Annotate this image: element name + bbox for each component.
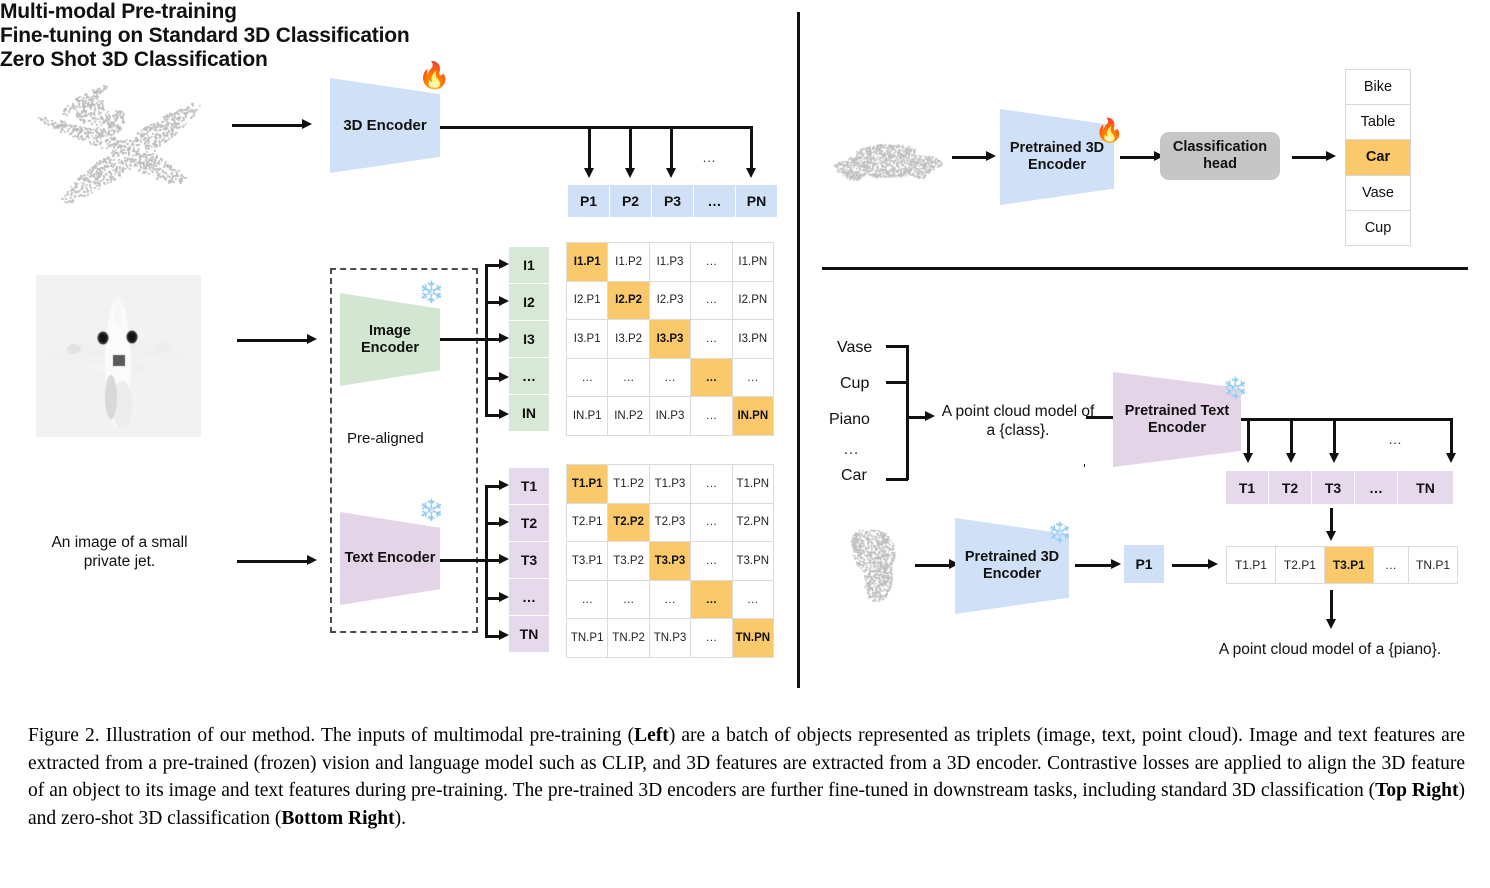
bus-ellipsis: … <box>702 149 716 167</box>
matrix-cell: T1.P1 <box>567 465 607 503</box>
t-cell-label: T2 <box>521 515 537 531</box>
t-cell-label: T3 <box>521 552 537 568</box>
t-row-label: T2 <box>1282 480 1298 496</box>
image-encoder-label: Image Encoder <box>340 323 440 356</box>
p-cell-label: PN <box>747 193 766 209</box>
arrow-head <box>1208 559 1218 569</box>
matrix-cell: IN.P1 <box>567 397 607 435</box>
t-row-label: … <box>1369 480 1383 496</box>
matrix-cell: I3.P1 <box>567 320 607 358</box>
arrow-head <box>499 554 509 564</box>
class-list-item[interactable]: Car <box>1346 140 1410 174</box>
arrow-head <box>1326 151 1336 161</box>
p-cell-label: P3 <box>664 193 681 209</box>
matrix-cell: … <box>691 243 731 281</box>
matrix-cell: … <box>567 581 607 619</box>
class-bracket-arm <box>886 381 908 384</box>
arrow-head <box>625 168 635 178</box>
i-cell: I2 <box>509 284 549 320</box>
snowflake-emoji: ❄️ <box>1047 523 1072 543</box>
image-encoder[interactable]: Image Encoder <box>340 293 440 386</box>
matrix-cell: I3.PN <box>733 320 773 358</box>
p-cell: … <box>694 185 735 217</box>
caption-emphasis: Bottom Right <box>281 808 394 829</box>
prompt-line-1: A point cloud model of <box>942 403 1095 420</box>
i-cell: … <box>509 358 549 394</box>
arrow-head <box>1243 453 1253 463</box>
i-cell-label: … <box>522 368 536 384</box>
bus-ellipsis: … <box>1388 431 1402 449</box>
t-cell: TN <box>509 616 549 652</box>
arrow-line <box>237 339 309 342</box>
snowflake-emoji: ❄️ <box>418 500 444 521</box>
p-cell-label: P2 <box>622 193 639 209</box>
pre-aligned-label: Pre-aligned <box>347 430 424 447</box>
i-cell: IN <box>509 395 549 431</box>
arrow-head <box>1326 619 1336 629</box>
class-bracket-spine <box>906 345 909 480</box>
matrix-cell: T2.P2 <box>608 504 648 542</box>
matrix-cell: I1.P3 <box>650 243 690 281</box>
arrow-line <box>1120 156 1158 159</box>
matrix-cell: … <box>691 397 731 435</box>
i-cell: I3 <box>509 321 549 357</box>
matrix-cell: TN.P2 <box>608 619 648 657</box>
t-cell: T3 <box>509 542 549 578</box>
arrow-line <box>1086 416 1116 419</box>
text-encoder-line-2: Encoder <box>1148 420 1206 436</box>
arrow-head <box>499 296 509 306</box>
arrow-head <box>666 168 676 178</box>
t-row-cell: T1 <box>1226 471 1268 504</box>
arrow-line <box>1172 564 1212 567</box>
matrix-cell: IN.P2 <box>608 397 648 435</box>
image-encoder-text: Image Encoder <box>361 323 419 356</box>
matrix-cell: … <box>650 581 690 619</box>
bus-drop-1 <box>588 126 591 171</box>
arrow-line <box>1330 590 1333 622</box>
matrix-cell: … <box>650 359 690 397</box>
matrix-cell: … <box>691 282 731 320</box>
arrow-head <box>307 555 317 565</box>
bus-drop-2 <box>629 126 632 171</box>
p1-feature-cell: P1 <box>1124 545 1164 583</box>
vertical-divider <box>797 12 800 688</box>
class-list-item[interactable]: Table <box>1346 105 1410 139</box>
arrow-head <box>584 168 594 178</box>
zeroshot-class-ellipsis: … <box>843 440 859 460</box>
head-line-1: Classification <box>1173 139 1267 155</box>
bus-drop-2 <box>1290 418 1293 456</box>
p-cell-label: P1 <box>580 193 597 209</box>
matrix-cell: T1.PN <box>733 465 773 503</box>
bus-line-horizontal <box>440 126 753 129</box>
horizontal-divider <box>822 267 1468 270</box>
score-cell: T3.P1 <box>1325 547 1373 583</box>
arrow-line <box>440 559 488 562</box>
zeroshot-result: A point cloud model of a {piano}. <box>1175 640 1485 659</box>
p-cell-label: … <box>708 193 722 209</box>
arrow-head <box>499 592 509 602</box>
matrix-cell: I3.P3 <box>650 320 690 358</box>
classification-head-label: Classification head <box>1173 139 1267 174</box>
arrow-line <box>237 560 309 563</box>
matrix-cell: … <box>733 359 773 397</box>
arrow-head <box>1329 453 1339 463</box>
text-encoder-label: Text Encoder <box>341 550 440 567</box>
fire-emoji: 🔥 <box>1095 119 1124 142</box>
t-cell-label: TN <box>520 626 539 642</box>
matrix-cell: … <box>733 581 773 619</box>
arrow-head <box>746 168 756 178</box>
matrix-cell: TN.PN <box>733 619 773 657</box>
arrow-head <box>499 480 509 490</box>
caption-text: ). <box>395 808 406 829</box>
score-cell: TN.P1 <box>1409 547 1457 583</box>
airplane-point-cloud <box>10 48 225 223</box>
matrix-cell: I2.P2 <box>608 282 648 320</box>
pretrained-3d-encoder-label: Pretrained 3D Encoder <box>1006 140 1108 173</box>
matrix-cell: T3.PN <box>733 542 773 580</box>
t-row-cell: TN <box>1398 471 1453 504</box>
arrow-head <box>499 517 509 527</box>
class-list-item[interactable]: Cup <box>1346 211 1410 245</box>
arrow-head <box>499 409 509 419</box>
t-row-cell: T3 <box>1312 471 1354 504</box>
t-row-label: TN <box>1416 480 1435 496</box>
arrow-head <box>1111 559 1121 569</box>
bus-drop-3 <box>670 126 673 171</box>
arrow-head <box>499 630 509 640</box>
t-cell-label: … <box>522 589 536 605</box>
matrix-cell: … <box>608 359 648 397</box>
matrix-cell: T3.P3 <box>650 542 690 580</box>
i-cell-label: I3 <box>523 331 535 347</box>
snowflake-emoji: ❄️ <box>418 282 444 303</box>
matrix-cell: … <box>691 320 731 358</box>
t-row-cell: T2 <box>1269 471 1311 504</box>
arrow-head <box>307 334 317 344</box>
matrix-cell: T1.P3 <box>650 465 690 503</box>
matrix-cell: … <box>691 542 731 580</box>
matrix-cell: IN.P3 <box>650 397 690 435</box>
arrow-head <box>302 119 312 129</box>
t-cell-label: T1 <box>521 478 537 494</box>
score-cell: … <box>1374 547 1408 583</box>
arrow-line <box>915 564 953 567</box>
matrix-cell: T3.P1 <box>567 542 607 580</box>
class-list-item[interactable]: Vase <box>1346 176 1410 210</box>
matrix-cell: I1.P2 <box>608 243 648 281</box>
text-encoder-line-1: Pretrained Text <box>1125 403 1230 419</box>
matrix-cell: T2.P3 <box>650 504 690 542</box>
score-cell: T2.P1 <box>1276 547 1324 583</box>
encoder-3d[interactable]: 3D Encoder <box>330 78 440 173</box>
matrix-cell: … <box>567 359 607 397</box>
arrow-head <box>1326 531 1336 541</box>
pretrained-text-encoder-label: Pretrained Text Encoder <box>1121 403 1234 436</box>
t-cell: … <box>509 579 549 615</box>
snowflake-emoji: ❄️ <box>1222 378 1248 399</box>
class-bracket-arm <box>886 478 908 481</box>
private-jet-render <box>36 275 201 437</box>
bus-drop-n <box>1450 418 1453 456</box>
matrix-cell: T2.P1 <box>567 504 607 542</box>
top-right-panel-title: Fine-tuning on Standard 3D Classificatio… <box>0 24 1490 48</box>
i-cell-label: I2 <box>523 294 535 310</box>
class-bracket-arm <box>886 345 908 348</box>
classification-head[interactable]: Classification head <box>1160 132 1280 180</box>
arrow-line <box>952 156 990 159</box>
arrow-line <box>232 124 304 127</box>
encoder-line-2: Encoder <box>1028 157 1086 173</box>
p-cell: P2 <box>610 185 651 217</box>
arrow-head <box>499 333 509 343</box>
i-cell: I1 <box>509 247 549 283</box>
text-input-caption: An image of a small private jet. <box>32 533 207 572</box>
fire-emoji: 🔥 <box>418 62 450 88</box>
zeroshot-score-row: T1.P1T2.P1T3.P1…TN.P1 <box>1226 546 1458 584</box>
arrow-head <box>1286 453 1296 463</box>
zeroshot-class-vase: Vase <box>837 338 872 358</box>
matrix-cell: I3.P2 <box>608 320 648 358</box>
matrix-cell: I2.PN <box>733 282 773 320</box>
encoder-3d-label: 3D Encoder <box>339 117 430 134</box>
i-cell-label: I1 <box>523 257 535 273</box>
zeroshot-class-car: Car <box>841 466 867 486</box>
caption-emphasis: Top Right <box>1375 780 1458 801</box>
image-point-similarity-matrix: I1.P1I1.P2I1.P3…I1.PNI2.P1I2.P2I2.P3…I2.… <box>566 242 774 436</box>
matrix-cell: T1.P2 <box>608 465 648 503</box>
p1-label: P1 <box>1135 556 1152 572</box>
matrix-cell: I1.PN <box>733 243 773 281</box>
left-panel-title: Multi-modal Pre-training <box>0 0 1490 24</box>
matrix-cell: … <box>691 619 731 657</box>
zeroshot-class-cup: Cup <box>840 374 869 394</box>
encoder3d-line-2: Encoder <box>983 566 1041 582</box>
bus-line-horizontal <box>1241 418 1453 421</box>
matrix-cell: … <box>608 581 648 619</box>
p-cell: P1 <box>568 185 609 217</box>
arrow-line <box>1292 156 1330 159</box>
matrix-cell: T2.PN <box>733 504 773 542</box>
t-row-label: T3 <box>1325 480 1341 496</box>
matrix-cell: TN.P1 <box>567 619 607 657</box>
p-cell: P3 <box>652 185 693 217</box>
text-encoder[interactable]: Text Encoder <box>340 512 440 605</box>
matrix-cell: T3.P2 <box>608 542 648 580</box>
score-cell: T1.P1 <box>1227 547 1275 583</box>
piano-point-cloud <box>848 522 920 602</box>
head-line-2: head <box>1203 156 1237 172</box>
matrix-cell: I1.P1 <box>567 243 607 281</box>
arrow-line <box>1084 464 1085 467</box>
class-list-item[interactable]: Bike <box>1346 70 1410 104</box>
p-cell: PN <box>736 185 777 217</box>
matrix-cell: … <box>691 359 731 397</box>
matrix-cell: IN.PN <box>733 397 773 435</box>
matrix-cell: … <box>691 581 731 619</box>
prompt-template: A point cloud model of a {class}. <box>933 402 1103 441</box>
t-row-cell: … <box>1355 471 1397 504</box>
arrow-line <box>440 338 488 341</box>
t-cell: T1 <box>509 468 549 504</box>
class-prediction-list[interactable]: BikeTableCarVaseCup <box>1345 69 1411 246</box>
arrow-head <box>499 372 509 382</box>
t-row-label: T1 <box>1239 480 1255 496</box>
caption-emphasis: Left <box>634 725 669 746</box>
matrix-cell: I2.P1 <box>567 282 607 320</box>
arrow-head <box>499 259 509 269</box>
arrow-head <box>1446 453 1456 463</box>
arrow-line <box>1075 564 1115 567</box>
pretrained-3d-encoder-zeroshot-label: Pretrained 3D Encoder <box>961 549 1063 582</box>
text-point-similarity-matrix: T1.P1T1.P2T1.P3…T1.PNT2.P1T2.P2T2.P3…T2.… <box>566 464 774 658</box>
jet-canvas <box>36 275 201 437</box>
text-encoder-text: Text Encoder <box>345 550 436 566</box>
matrix-cell: … <box>691 465 731 503</box>
caption-text: Figure 2. Illustration of our method. Th… <box>28 725 634 746</box>
encoder-line-1: Pretrained 3D <box>1010 140 1104 156</box>
figure-caption: Figure 2. Illustration of our method. Th… <box>28 722 1465 833</box>
arrow-head <box>986 151 996 161</box>
zeroshot-class-piano: Piano <box>829 410 870 430</box>
matrix-cell: I2.P3 <box>650 282 690 320</box>
car-point-cloud <box>828 125 948 195</box>
matrix-cell: TN.P3 <box>650 619 690 657</box>
bus-drop-3 <box>1333 418 1336 456</box>
matrix-cell: … <box>691 504 731 542</box>
bus-drop-n <box>750 126 753 171</box>
i-cell-label: IN <box>522 405 536 421</box>
prompt-line-2: a {class}. <box>987 422 1050 439</box>
bus-drop-1 <box>1247 418 1250 456</box>
encoder3d-line-1: Pretrained 3D <box>965 549 1059 565</box>
t-cell: T2 <box>509 505 549 541</box>
